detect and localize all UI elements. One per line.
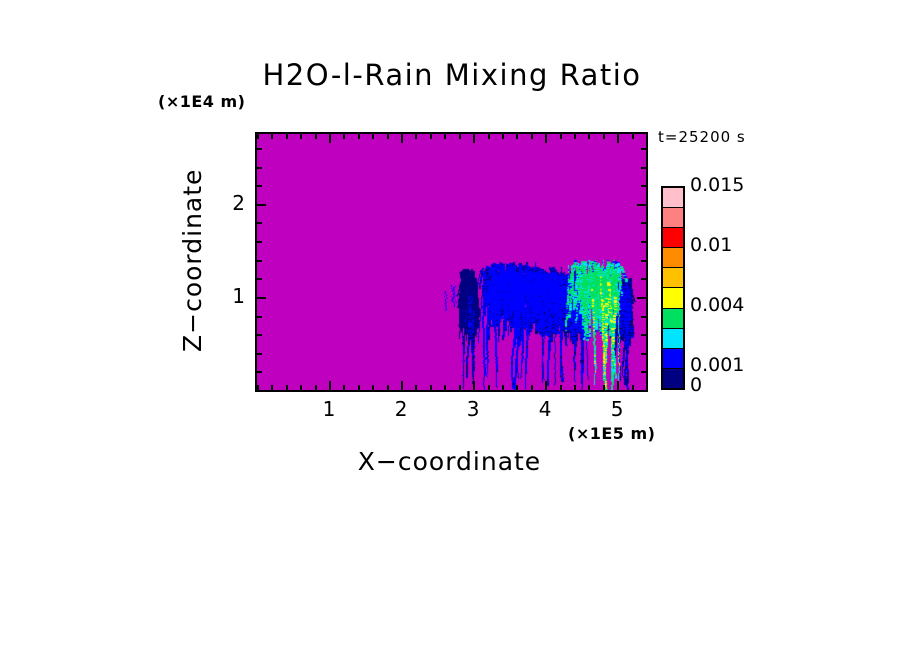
y-minor-tick-right <box>641 222 646 224</box>
y-minor-tick <box>257 241 262 243</box>
x-major-tick-top <box>617 134 619 143</box>
y-minor-tick <box>257 353 262 355</box>
y-minor-tick <box>257 390 262 392</box>
colorbar-band <box>663 248 683 268</box>
colorbar-band <box>663 208 683 228</box>
y-minor-tick <box>257 316 262 318</box>
x-minor-tick <box>646 385 648 390</box>
y-minor-tick-right <box>641 260 646 262</box>
x-major-tick-top <box>545 134 547 143</box>
x-minor-tick-top <box>488 134 490 139</box>
colorbar-tick-label: 0.004 <box>690 294 744 316</box>
x-tick-label: 2 <box>386 397 416 421</box>
page-title: H2O-l-Rain Mixing Ratio <box>0 58 904 92</box>
x-minor-tick-top <box>603 134 605 139</box>
y-minor-tick-right <box>641 148 646 150</box>
x-minor-tick-top <box>271 134 273 139</box>
figure-canvas: H2O-l-Rain Mixing Ratio (×1E4 m) t=25200… <box>0 0 904 654</box>
x-minor-tick <box>343 385 345 390</box>
x-minor-tick-top <box>315 134 317 139</box>
x-minor-tick-top <box>588 134 590 139</box>
x-minor-tick-top <box>286 134 288 139</box>
x-minor-tick <box>430 385 432 390</box>
x-major-tick <box>617 381 619 390</box>
x-minor-tick <box>315 385 317 390</box>
colorbar-tick-label: 0.01 <box>690 234 732 256</box>
x-minor-tick-top <box>358 134 360 139</box>
colorbar-band <box>663 288 683 308</box>
y-minor-tick-right <box>641 353 646 355</box>
colorbar-band <box>663 309 683 329</box>
y-minor-tick <box>257 260 262 262</box>
x-minor-tick-top <box>372 134 374 139</box>
x-major-tick-top <box>401 134 403 143</box>
y-minor-tick <box>257 167 262 169</box>
timestamp-annotation: t=25200 s <box>658 128 746 146</box>
x-major-tick-top <box>329 134 331 143</box>
x-minor-tick-top <box>387 134 389 139</box>
x-minor-tick <box>300 385 302 390</box>
y-minor-tick-right <box>641 316 646 318</box>
colorbar-tick-label: 0 <box>690 374 702 396</box>
colorbar-band <box>663 228 683 248</box>
x-minor-tick <box>415 385 417 390</box>
plot-area <box>255 132 648 392</box>
y-minor-tick-right <box>641 371 646 373</box>
x-minor-tick <box>387 385 389 390</box>
x-minor-tick-top <box>415 134 417 139</box>
y-minor-tick <box>257 334 262 336</box>
x-tick-label: 3 <box>458 397 488 421</box>
x-minor-tick-top <box>574 134 576 139</box>
y-minor-tick-right <box>641 185 646 187</box>
x-tick-label: 1 <box>314 397 344 421</box>
y-major-tick-right <box>637 204 646 206</box>
x-axis-title: X−coordinate <box>255 447 644 476</box>
x-minor-tick <box>516 385 518 390</box>
colorbar-band <box>663 349 683 369</box>
x-axis-units-label: (×1E5 m) <box>568 424 655 443</box>
colorbar <box>661 186 685 390</box>
y-minor-tick <box>257 278 262 280</box>
x-minor-tick <box>271 385 273 390</box>
y-major-tick <box>257 204 266 206</box>
x-minor-tick-top <box>430 134 432 139</box>
x-tick-label: 4 <box>530 397 560 421</box>
x-tick-label: 5 <box>602 397 632 421</box>
y-axis-title: Z−coordinate <box>178 150 208 370</box>
y-major-tick-right <box>637 297 646 299</box>
x-major-tick <box>473 381 475 390</box>
x-minor-tick <box>588 385 590 390</box>
y-tick-label: 2 <box>215 191 245 215</box>
x-minor-tick <box>358 385 360 390</box>
x-major-tick-top <box>473 134 475 143</box>
colorbar-band <box>663 329 683 349</box>
y-minor-tick <box>257 185 262 187</box>
x-minor-tick-top <box>516 134 518 139</box>
x-minor-tick-top <box>531 134 533 139</box>
x-major-tick <box>329 381 331 390</box>
x-minor-tick <box>502 385 504 390</box>
x-minor-tick <box>286 385 288 390</box>
x-minor-tick-top <box>459 134 461 139</box>
y-minor-tick-right <box>641 334 646 336</box>
x-major-tick <box>545 381 547 390</box>
x-minor-tick <box>603 385 605 390</box>
x-minor-tick <box>531 385 533 390</box>
y-tick-label: 1 <box>215 284 245 308</box>
x-minor-tick <box>459 385 461 390</box>
x-minor-tick-top <box>560 134 562 139</box>
x-minor-tick-top <box>502 134 504 139</box>
y-minor-tick <box>257 148 262 150</box>
x-minor-tick-top <box>632 134 634 139</box>
x-minor-tick-top <box>257 134 259 139</box>
y-minor-tick-right <box>641 167 646 169</box>
y-minor-tick-right <box>641 241 646 243</box>
y-minor-tick-right <box>641 390 646 392</box>
y-minor-tick-right <box>641 278 646 280</box>
y-major-tick <box>257 297 266 299</box>
x-minor-tick <box>372 385 374 390</box>
colorbar-band <box>663 369 683 388</box>
x-minor-tick-top <box>646 134 648 139</box>
x-minor-tick-top <box>444 134 446 139</box>
x-minor-tick <box>560 385 562 390</box>
x-major-tick <box>401 381 403 390</box>
x-minor-tick <box>632 385 634 390</box>
y-minor-tick <box>257 222 262 224</box>
y-minor-tick <box>257 371 262 373</box>
x-minor-tick <box>488 385 490 390</box>
colorbar-tick-label: 0.015 <box>690 174 744 196</box>
colorbar-band <box>663 268 683 288</box>
colorbar-band <box>663 188 683 208</box>
x-minor-tick-top <box>343 134 345 139</box>
colorbar-tick-label: 0.001 <box>690 354 744 376</box>
y-axis-units-label: (×1E4 m) <box>158 92 245 111</box>
heatmap-canvas <box>257 134 646 390</box>
x-minor-tick-top <box>300 134 302 139</box>
x-minor-tick <box>444 385 446 390</box>
x-minor-tick <box>574 385 576 390</box>
